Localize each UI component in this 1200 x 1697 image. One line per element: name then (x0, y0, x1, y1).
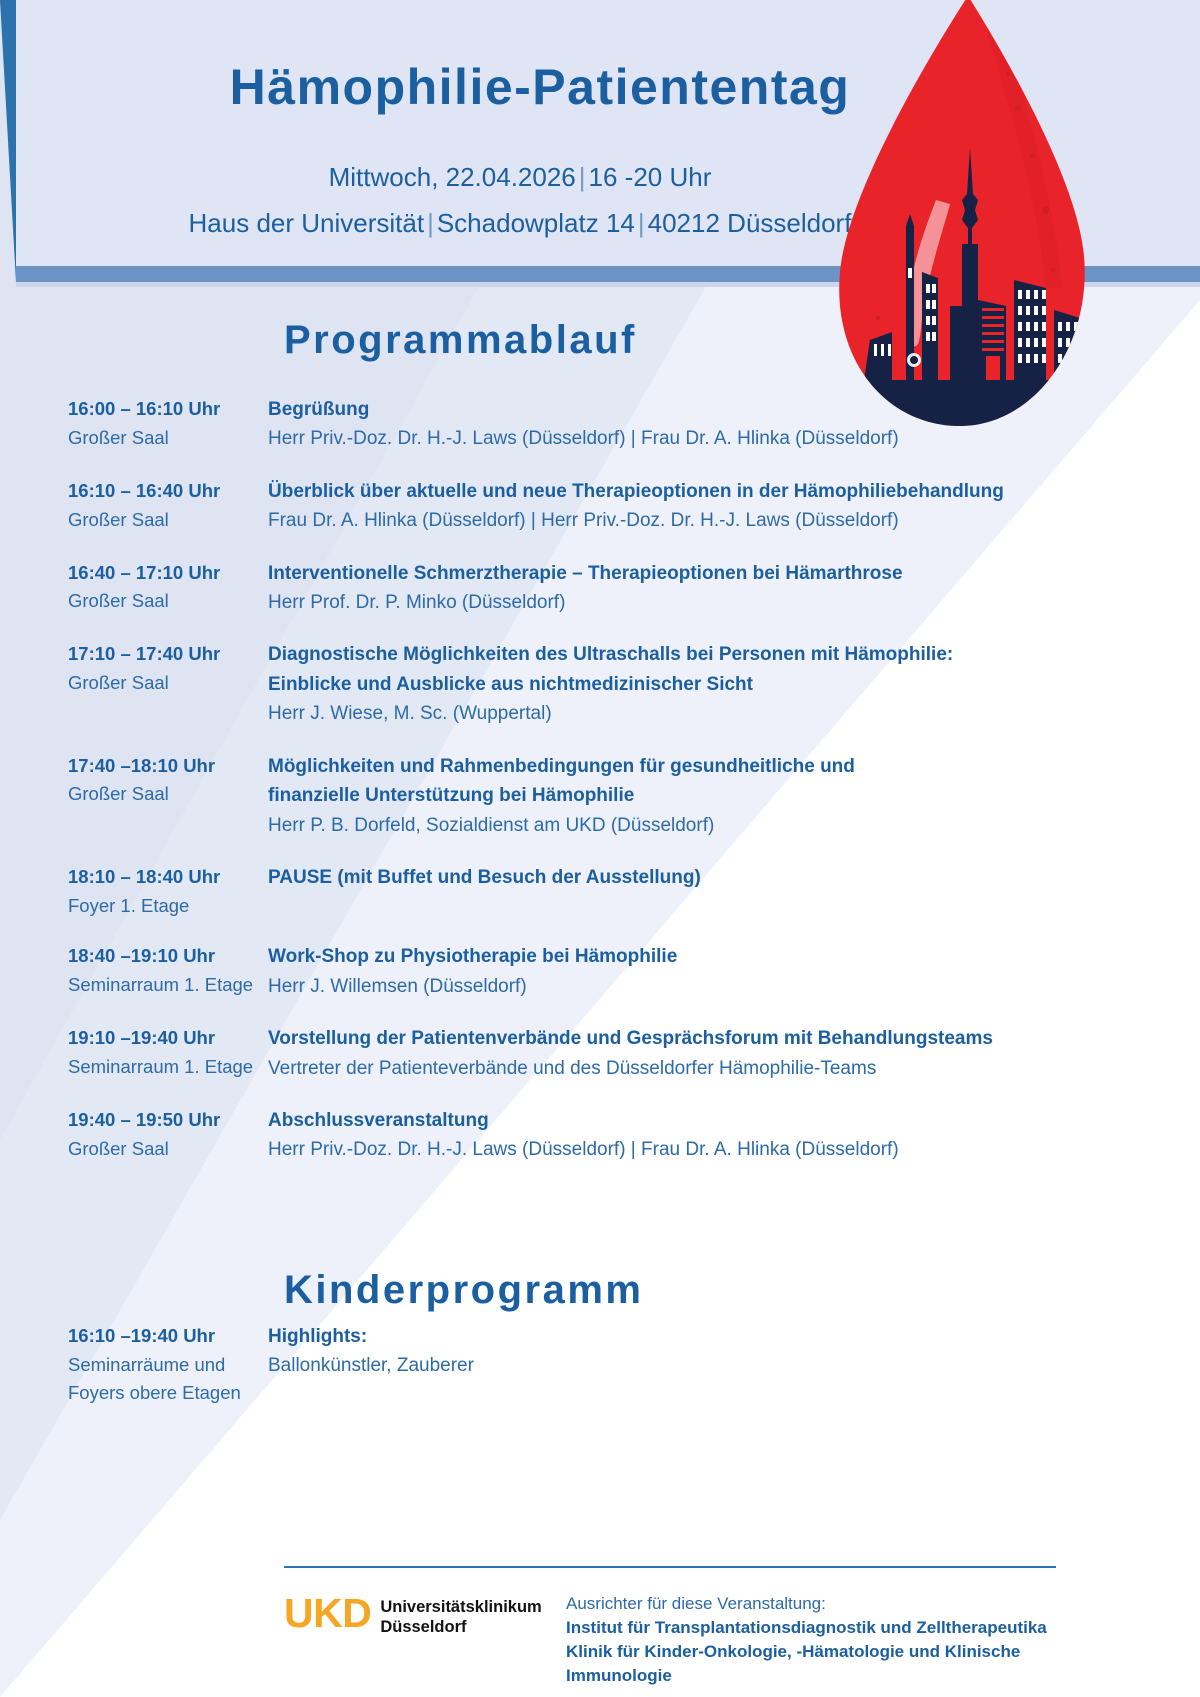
program-row-room: Großer Saal (68, 1135, 268, 1164)
program-row-time-room: 17:40 –18:10 UhrGroßer Saal (68, 752, 268, 809)
poster-root: Hämophilie-Patiententag Mittwoch, 22.04.… (0, 0, 1200, 1697)
separator-icon: | (635, 208, 648, 238)
program-row-details: Überblick über aktuelle und neue Therapi… (268, 477, 1128, 537)
program-row-room: Foyers obere Etagen (68, 1379, 268, 1408)
program-row-room: Großer Saal (68, 506, 268, 535)
program-row-time-room: 18:10 – 18:40 UhrFoyer 1. Etage (68, 863, 268, 920)
program-row-details: Vorstellung der Patientenverbände und Ge… (268, 1024, 1128, 1084)
program-row: 19:10 –19:40 UhrSeminarraum 1. EtageVors… (68, 1024, 1128, 1084)
footer-organizer-2: Klinik für Kinder-Onkologie, -Hämatologi… (566, 1640, 1126, 1688)
program-row-time: 16:00 – 16:10 Uhr (68, 395, 268, 424)
ukd-logo-wordmark: Universitätsklinikum Düsseldorf (380, 1594, 541, 1637)
program-row-room: Seminarraum 1. Etage (68, 1053, 268, 1082)
program-row: 16:40 – 17:10 UhrGroßer SaalIntervention… (68, 559, 1128, 619)
program-row-time-room: 19:10 –19:40 UhrSeminarraum 1. Etage (68, 1024, 268, 1081)
program-row-topic: Vorstellung der Patientenverbände und Ge… (268, 1024, 1128, 1053)
program-row-time: 16:40 – 17:10 Uhr (68, 559, 268, 588)
program-row: 16:10 – 16:40 UhrGroßer SaalÜberblick üb… (68, 477, 1128, 537)
program-row-time-room: 16:10 –19:40 UhrSeminarräume undFoyers o… (68, 1322, 268, 1408)
program-row: 17:10 – 17:40 UhrGroßer SaalDiagnostisch… (68, 640, 1128, 729)
program-row-topic: Überblick über aktuelle und neue Therapi… (268, 477, 1128, 506)
blood-drop-icon (818, 0, 1096, 458)
venue-name: Haus der Universität (189, 208, 425, 238)
program-row-room: Großer Saal (68, 669, 268, 698)
program-row-time: 16:10 – 16:40 Uhr (68, 477, 268, 506)
program-row-topic: Highlights: (268, 1322, 1128, 1351)
program-row-room: Großer Saal (68, 780, 268, 809)
program-list: 16:00 – 16:10 UhrGroßer SaalBegrüßungHer… (68, 395, 1128, 1188)
program-row-time-room: 18:40 –19:10 UhrSeminarraum 1. Etage (68, 942, 268, 999)
program-row-time-room: 17:10 – 17:40 UhrGroßer Saal (68, 640, 268, 697)
program-row-speaker: Herr Priv.-Doz. Dr. H.-J. Laws (Düsseldo… (268, 1135, 1128, 1165)
ukd-logo: UKD Universitätsklinikum Düsseldorf (284, 1594, 542, 1637)
program-row: 19:40 – 19:50 UhrGroßer SaalAbschlussver… (68, 1106, 1128, 1166)
program-row-room: Seminarräume und (68, 1351, 268, 1380)
program-row-speaker: Herr P. B. Dorfeld, Sozialdienst am UKD … (268, 811, 1128, 841)
program-section-title: Programmablauf (284, 318, 637, 363)
program-row-speaker: Vertreter der Patienteverbände und des D… (268, 1054, 1128, 1084)
program-row-time: 18:40 –19:10 Uhr (68, 942, 268, 971)
program-row-topic: Einblicke und Ausblicke aus nichtmedizin… (268, 670, 1128, 699)
event-date-day: Mittwoch, 22.04.2026 (329, 162, 576, 192)
program-row-details: Diagnostische Möglichkeiten des Ultrasch… (268, 640, 1128, 729)
program-row-topic: Möglichkeiten und Rahmenbedingungen für … (268, 752, 1128, 781)
ukd-logo-line-1: Universitätsklinikum (380, 1597, 541, 1617)
separator-icon: | (424, 208, 437, 238)
program-row-speaker: Herr J. Willemsen (Düsseldorf) (268, 972, 1128, 1002)
program-row-room: Seminarraum 1. Etage (68, 971, 268, 1000)
program-row-topic: PAUSE (mit Buffet und Besuch der Ausstel… (268, 863, 1128, 892)
program-row-details: PAUSE (mit Buffet und Besuch der Ausstel… (268, 863, 1128, 892)
program-row-time: 19:10 –19:40 Uhr (68, 1024, 268, 1053)
program-row-time: 17:10 – 17:40 Uhr (68, 640, 268, 669)
program-row-topic: Interventionelle Schmerztherapie – Thera… (268, 559, 1128, 588)
program-row-time: 17:40 –18:10 Uhr (68, 752, 268, 781)
program-row-topic: Work-Shop zu Physiotherapie bei Hämophil… (268, 942, 1128, 971)
program-row-speaker: Frau Dr. A. Hlinka (Düsseldorf) | Herr P… (268, 506, 1128, 536)
program-row-details: AbschlussveranstaltungHerr Priv.-Doz. Dr… (268, 1106, 1128, 1166)
program-row: 16:10 –19:40 UhrSeminarräume undFoyers o… (68, 1322, 1128, 1408)
program-row-speaker: Herr Prof. Dr. P. Minko (Düsseldorf) (268, 588, 1128, 618)
program-row-room: Großer Saal (68, 424, 268, 453)
program-row-details: Interventionelle Schmerztherapie – Thera… (268, 559, 1128, 619)
footer-organizer-1: Institut für Transplantationsdiagnostik … (566, 1616, 1126, 1640)
program-row-time: 16:10 –19:40 Uhr (68, 1322, 268, 1351)
ukd-logo-mark: UKD (284, 1594, 371, 1633)
program-row-time-room: 16:00 – 16:10 UhrGroßer Saal (68, 395, 268, 452)
program-row-topic: finanzielle Unterstützung bei Hämophilie (268, 781, 1128, 810)
program-row-details: Highlights:Ballonkünstler, Zauberer (268, 1322, 1128, 1382)
program-row-time-room: 19:40 – 19:50 UhrGroßer Saal (68, 1106, 268, 1163)
program-row: 17:40 –18:10 UhrGroßer SaalMöglichkeiten… (68, 752, 1128, 841)
kinderprogramm-list: 16:10 –19:40 UhrSeminarräume undFoyers o… (68, 1322, 1128, 1430)
footer-divider (284, 1566, 1056, 1568)
program-row-room: Foyer 1. Etage (68, 892, 268, 921)
separator-icon: | (576, 162, 589, 192)
program-row-time-room: 16:40 – 17:10 UhrGroßer Saal (68, 559, 268, 616)
program-row-speaker: Ballonkünstler, Zauberer (268, 1351, 1128, 1381)
program-row-time-room: 16:10 – 16:40 UhrGroßer Saal (68, 477, 268, 534)
program-row-details: Möglichkeiten und Rahmenbedingungen für … (268, 752, 1128, 841)
program-row-time: 19:40 – 19:50 Uhr (68, 1106, 268, 1135)
program-row: 18:10 – 18:40 UhrFoyer 1. EtagePAUSE (mi… (68, 863, 1128, 920)
footer-organizer-block: Ausrichter für diese Veranstaltung: Inst… (566, 1592, 1126, 1697)
program-row-details: Work-Shop zu Physiotherapie bei Hämophil… (268, 942, 1128, 1002)
program-row-topic: Diagnostische Möglichkeiten des Ultrasch… (268, 640, 1128, 669)
program-row-topic: Abschlussveranstaltung (268, 1106, 1128, 1135)
program-row-time: 18:10 – 18:40 Uhr (68, 863, 268, 892)
program-row-room: Großer Saal (68, 587, 268, 616)
event-date-time: 16 -20 Uhr (589, 162, 712, 192)
footer-host-label: Ausrichter für diese Veranstaltung: (566, 1592, 1126, 1616)
venue-street: Schadowplatz 14 (437, 208, 635, 238)
ukd-logo-line-2: Düsseldorf (380, 1617, 541, 1637)
program-row-speaker: Herr J. Wiese, M. Sc. (Wuppertal) (268, 699, 1128, 729)
page-title: Hämophilie-Patiententag (160, 58, 920, 116)
kinderprogramm-section-title: Kinderprogramm (284, 1268, 644, 1313)
program-row: 18:40 –19:10 UhrSeminarraum 1. EtageWork… (68, 942, 1128, 1002)
